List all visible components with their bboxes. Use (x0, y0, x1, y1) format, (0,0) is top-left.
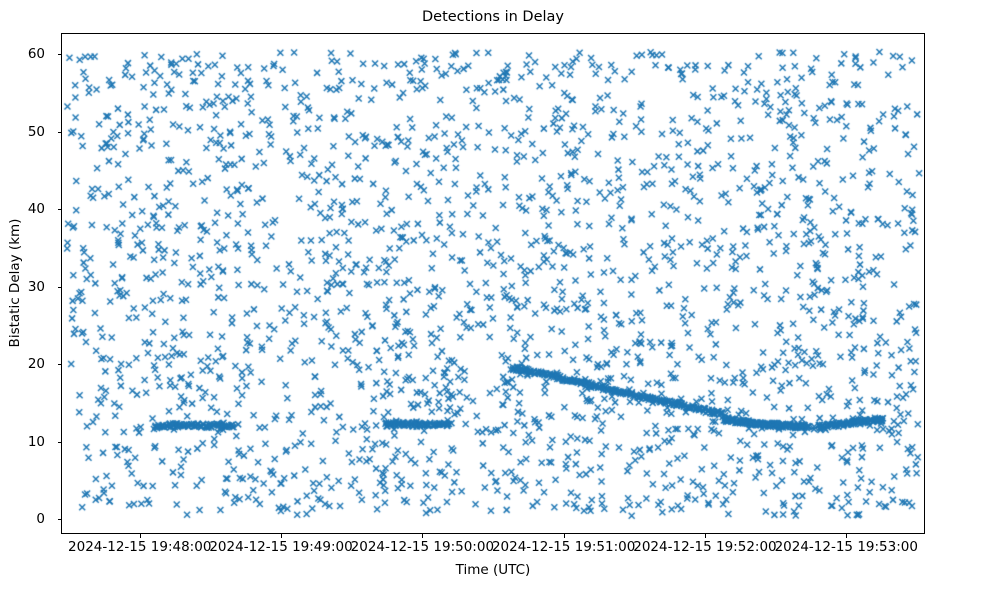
chart-title: Detections in Delay (61, 8, 925, 26)
y-tick-label: 30 (28, 279, 45, 295)
y-tick-mark (58, 54, 62, 55)
x-axis-label: Time (UTC) (61, 562, 925, 578)
plot-area (61, 33, 925, 534)
y-tick-label: 60 (28, 46, 45, 62)
x-tick-label: 2024-12-15 19:51:00 (492, 539, 635, 555)
x-tick-mark (422, 534, 423, 538)
y-tick-label: 50 (28, 124, 45, 140)
x-tick-label: 2024-12-15 19:50:00 (351, 539, 494, 555)
y-tick-mark (58, 132, 62, 133)
y-tick-mark (58, 442, 62, 443)
y-tick-mark (58, 209, 62, 210)
y-tick-mark (58, 519, 62, 520)
y-tick-label: 40 (28, 201, 45, 217)
x-tick-label: 2024-12-15 19:53:00 (775, 539, 918, 555)
x-tick-label: 2024-12-15 19:48:00 (68, 539, 211, 555)
y-tick-label: 10 (28, 434, 45, 450)
y-tick-mark (58, 287, 62, 288)
y-tick-label: 0 (36, 511, 45, 527)
y-tick-label: 20 (28, 356, 45, 372)
x-tick-mark (846, 534, 847, 538)
x-tick-mark (281, 534, 282, 538)
x-tick-mark (140, 534, 141, 538)
x-tick-mark (564, 534, 565, 538)
x-tick-label: 2024-12-15 19:49:00 (209, 539, 352, 555)
scatter-plot-canvas (62, 34, 924, 533)
y-axis-label: Bistatic Delay (km) (7, 219, 23, 348)
figure-canvas: Detections in Delay 0102030405060 2024-1… (0, 0, 987, 590)
x-tick-label: 2024-12-15 19:52:00 (633, 539, 776, 555)
y-tick-mark (58, 364, 62, 365)
x-tick-mark (705, 534, 706, 538)
